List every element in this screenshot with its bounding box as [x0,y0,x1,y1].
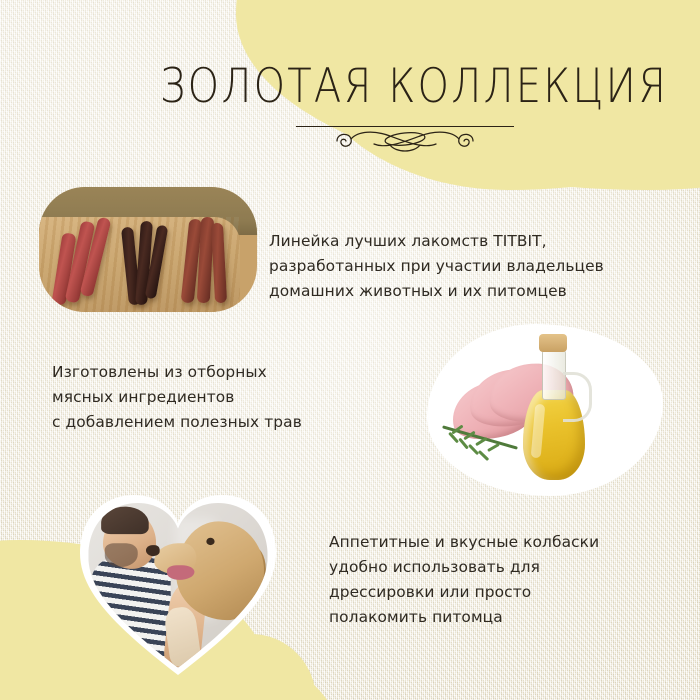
title-divider [296,126,514,160]
carafe-cork [539,334,567,352]
text-block-usage: Аппетитные и вкусные колбаски удобно исп… [329,530,679,630]
dog-eye [206,538,214,545]
photo-meat-sticks [39,187,257,312]
carafe-handle [563,372,592,422]
flourish-ornament-icon [332,127,478,159]
man-striped-shirt [90,558,171,666]
text-block-ingredients: Изготовлены из отборных мясных ингредиен… [52,360,382,435]
page-title: ЗОЛОТАЯ КОЛЛЕКЦИЯ [160,62,650,112]
dog-nose [146,545,160,556]
photo-meat-and-oil [427,324,663,496]
photo-man-and-dog-heart [80,493,276,679]
rosemary-leaf [487,443,500,452]
poster-canvas: ЗОЛОТАЯ КОЛЛЕКЦИЯ [0,0,700,700]
text-block-product-line: Линейка лучших лакомств TITBIT, разработ… [269,229,669,304]
olive-oil-carafe [515,332,593,484]
title-block: ЗОЛОТАЯ КОЛЛЕКЦИЯ [160,62,650,160]
